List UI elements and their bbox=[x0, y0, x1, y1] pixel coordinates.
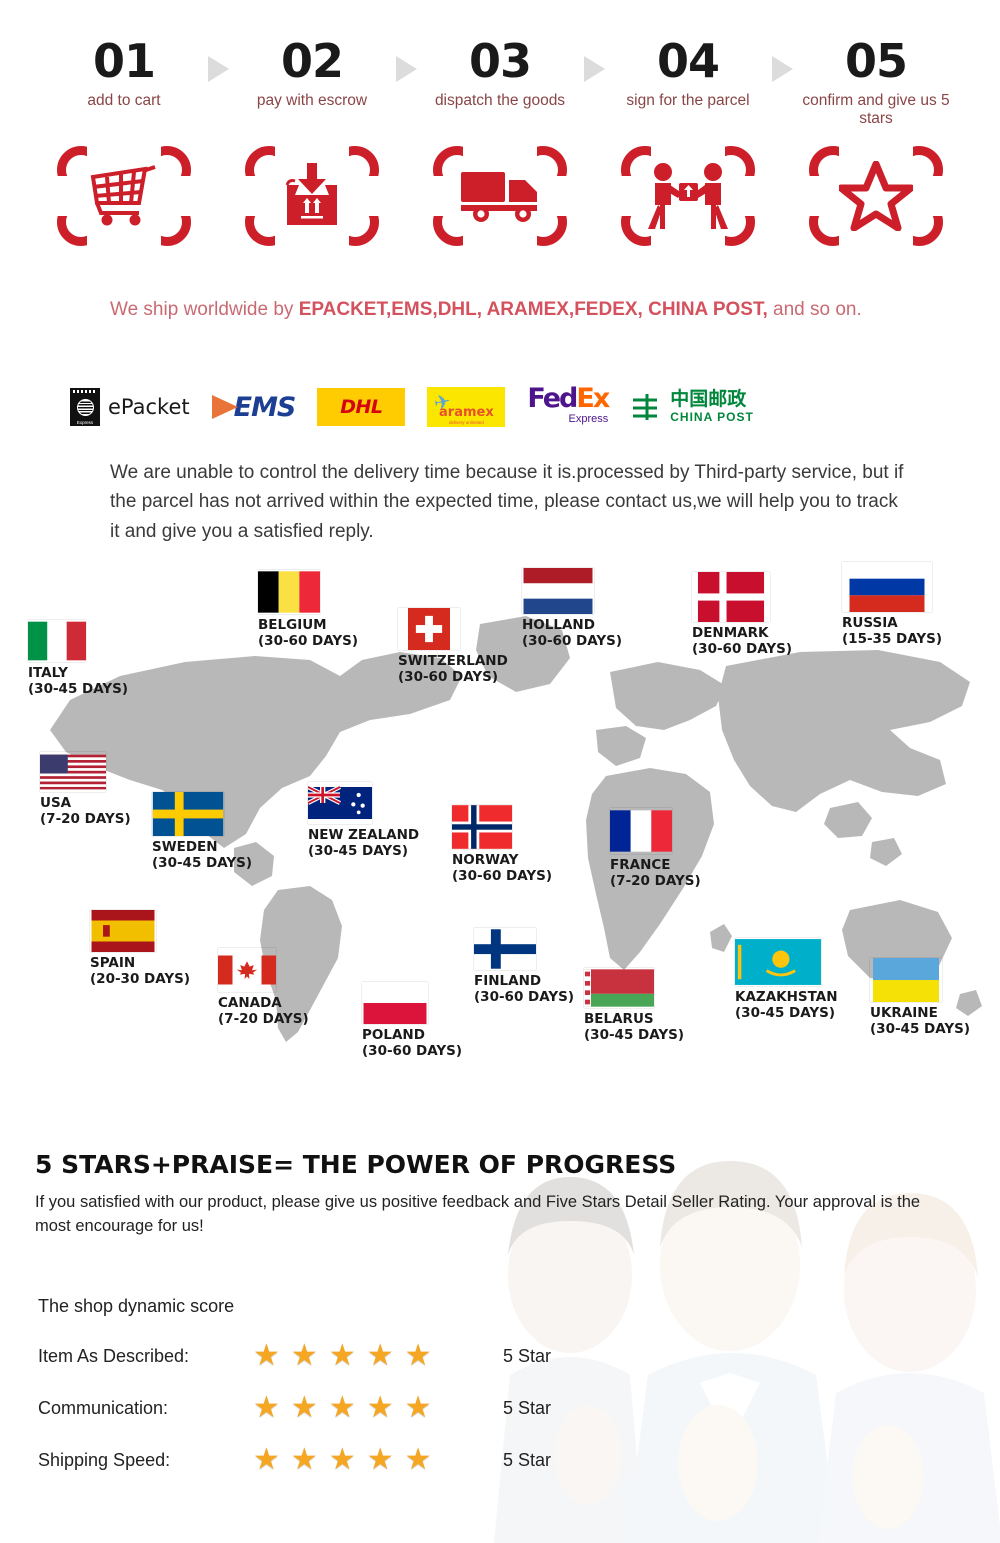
epacket-logo: Express ePacket bbox=[70, 385, 190, 429]
flag-finland-icon bbox=[474, 928, 536, 970]
flag-spain-icon bbox=[90, 910, 156, 952]
dhl-label: DHL bbox=[340, 396, 382, 418]
step-arrow-icon bbox=[387, 56, 425, 82]
flag-norway-icon bbox=[452, 805, 512, 849]
rating-value: 5 Star bbox=[503, 1450, 551, 1471]
escrow-box-tile bbox=[237, 140, 387, 252]
country-days: (30-60 DAYS) bbox=[522, 633, 622, 649]
country-days: (30-45 DAYS) bbox=[584, 1027, 684, 1043]
china-post-mark-icon bbox=[630, 391, 664, 423]
flag-sweden-icon bbox=[152, 792, 224, 836]
map-pin-spain: SPAIN (20-30 DAYS) bbox=[90, 910, 190, 987]
step-label: sign for the parcel bbox=[613, 92, 763, 110]
country-days: (30-45 DAYS) bbox=[870, 1021, 970, 1037]
seller-ratings: Item As Described: ★ ★ ★ ★ ★ 5 Star Comm… bbox=[38, 1330, 638, 1486]
flag-poland-icon bbox=[362, 982, 428, 1024]
country-name: SWEDEN bbox=[152, 839, 252, 855]
flag-canada-icon bbox=[218, 948, 276, 992]
flag-france-icon bbox=[610, 808, 672, 854]
country-days: (30-60 DAYS) bbox=[398, 669, 508, 685]
ems-logo: EMS bbox=[212, 385, 296, 429]
dhl-logo: DHL bbox=[317, 385, 405, 429]
country-name: DENMARK bbox=[692, 625, 792, 641]
map-pin-finland: FINLAND (30-60 DAYS) bbox=[474, 928, 574, 1005]
step-05: 05 confirm and give us 5 stars bbox=[801, 38, 951, 129]
map-pin-new-zealand: NEW ZEALAND (30-45 DAYS) bbox=[308, 782, 419, 859]
rating-row: Communication: ★ ★ ★ ★ ★ 5 Star bbox=[38, 1382, 638, 1434]
country-name: BELGIUM bbox=[258, 617, 358, 633]
flag-denmark-icon bbox=[692, 572, 770, 622]
china-post-en: CHINA POST bbox=[670, 410, 754, 424]
box-down-arrow-icon bbox=[277, 163, 347, 229]
map-pin-poland: POLAND (30-60 DAYS) bbox=[362, 982, 462, 1059]
airplane-icon: ✈ bbox=[432, 389, 454, 417]
country-days: (30-60 DAYS) bbox=[362, 1043, 462, 1059]
map-pin-holland: HOLLAND (30-60 DAYS) bbox=[522, 568, 622, 649]
step-number: 03 bbox=[425, 38, 575, 84]
feedback-section: 5 STARS+PRAISE= THE POWER OF PROGRESS If… bbox=[35, 1150, 935, 1239]
ship-suffix: and so on. bbox=[768, 299, 862, 320]
epacket-badge-icon: Express bbox=[70, 388, 100, 426]
epacket-badge-sub: Express bbox=[70, 420, 100, 425]
country-name: HOLLAND bbox=[522, 617, 622, 633]
star-icon: ★ bbox=[329, 1393, 356, 1423]
fedex-ex: Ex bbox=[576, 383, 608, 414]
flag-belgium-icon bbox=[258, 570, 320, 614]
star-icon: ★ bbox=[405, 1393, 432, 1423]
feedback-body: If you satisfied with our product, pleas… bbox=[35, 1191, 935, 1239]
star-icon: ★ bbox=[405, 1445, 432, 1475]
flag-holland-icon bbox=[522, 568, 594, 614]
country-name: FINLAND bbox=[474, 973, 574, 989]
step-arrow-icon bbox=[199, 56, 237, 82]
country-days: (30-45 DAYS) bbox=[152, 855, 252, 871]
map-pin-belarus: BELARUS (30-45 DAYS) bbox=[584, 968, 684, 1043]
rating-row: Shipping Speed: ★ ★ ★ ★ ★ 5 Star bbox=[38, 1434, 638, 1486]
shopping-cart-tile bbox=[49, 140, 199, 252]
fedex-fed: Fed bbox=[527, 383, 576, 414]
step-01: 01 add to cart bbox=[49, 38, 199, 110]
country-name: NEW ZEALAND bbox=[308, 827, 419, 843]
world-shipping-map: ITALY (30-45 DAYS) BELGIUM (30-60 DAYS) … bbox=[0, 560, 1000, 1090]
rating-stars: ★ ★ ★ ★ ★ bbox=[253, 1393, 503, 1423]
map-pin-sweden: SWEDEN (30-45 DAYS) bbox=[152, 792, 252, 871]
star-icon: ★ bbox=[367, 1445, 394, 1475]
country-name: SPAIN bbox=[90, 955, 190, 971]
country-name: UKRAINE bbox=[870, 1005, 970, 1021]
country-name: KAZAKHSTAN bbox=[735, 989, 838, 1005]
star-icon: ★ bbox=[253, 1393, 280, 1423]
fedex-sub: Express bbox=[569, 413, 609, 425]
flag-new-zealand-icon bbox=[308, 782, 372, 824]
rating-label: Communication: bbox=[38, 1398, 253, 1419]
flag-russia-icon bbox=[842, 562, 932, 612]
star-icon: ★ bbox=[329, 1341, 356, 1371]
step-label: pay with escrow bbox=[237, 92, 387, 110]
delivery-truck-icon bbox=[459, 168, 541, 224]
map-pin-belgium: BELGIUM (30-60 DAYS) bbox=[258, 570, 358, 649]
star-icon: ★ bbox=[291, 1445, 318, 1475]
carrier-logos: Express ePacket EMS DHL ✈ aramex deliver… bbox=[70, 382, 950, 432]
rating-value: 5 Star bbox=[503, 1346, 551, 1367]
star-outline-icon bbox=[839, 161, 913, 231]
dynamic-score-label: The shop dynamic score bbox=[38, 1296, 234, 1317]
country-days: (15-35 DAYS) bbox=[842, 631, 942, 647]
country-name: BELARUS bbox=[584, 1011, 684, 1027]
country-name: NORWAY bbox=[452, 852, 552, 868]
flag-ukraine-icon bbox=[870, 958, 942, 1002]
aramex-sub: delivery unlimited bbox=[449, 420, 484, 425]
step-number: 02 bbox=[237, 38, 387, 84]
flag-italy-icon bbox=[28, 620, 86, 662]
flag-belarus-icon bbox=[584, 968, 654, 1008]
delivery-time-disclaimer: We are unable to control the delivery ti… bbox=[110, 458, 910, 546]
country-name: ITALY bbox=[28, 665, 128, 681]
country-days: (7-20 DAYS) bbox=[40, 811, 131, 827]
map-pin-canada: CANADA (7-20 DAYS) bbox=[218, 948, 309, 1027]
map-pin-russia: RUSSIA (15-35 DAYS) bbox=[842, 562, 942, 647]
country-name: FRANCE bbox=[610, 857, 701, 873]
rating-row: Item As Described: ★ ★ ★ ★ ★ 5 Star bbox=[38, 1330, 638, 1382]
country-days: (30-60 DAYS) bbox=[258, 633, 358, 649]
ems-label: EMS bbox=[234, 392, 296, 423]
parcel-handover-tile bbox=[613, 140, 763, 252]
country-days: (30-60 DAYS) bbox=[474, 989, 574, 1005]
rating-value: 5 Star bbox=[503, 1398, 551, 1419]
step-number: 04 bbox=[613, 38, 763, 84]
ship-carriers: EPACKET,EMS,DHL, ARAMEX,FEDEX, CHINA POS… bbox=[299, 299, 768, 320]
step-04: 04 sign for the parcel bbox=[613, 38, 763, 110]
step-02: 02 pay with escrow bbox=[237, 38, 387, 110]
step-03: 03 dispatch the goods bbox=[425, 38, 575, 110]
flag-switzerland-icon bbox=[398, 608, 460, 650]
map-pin-usa: USA (7-20 DAYS) bbox=[40, 752, 131, 827]
epacket-label: ePacket bbox=[108, 395, 190, 419]
country-days: (30-60 DAYS) bbox=[692, 641, 792, 657]
feedback-title: 5 STARS+PRAISE= THE POWER OF PROGRESS bbox=[35, 1150, 935, 1179]
star-icon: ★ bbox=[329, 1445, 356, 1475]
country-name: RUSSIA bbox=[842, 615, 942, 631]
country-name: POLAND bbox=[362, 1027, 462, 1043]
step-label: add to cart bbox=[49, 92, 199, 110]
map-pin-ukraine: UKRAINE (30-45 DAYS) bbox=[870, 958, 970, 1037]
flag-usa-icon bbox=[40, 752, 106, 792]
process-step-icons bbox=[0, 140, 1000, 255]
worldwide-shipping-text: We ship worldwide by EPACKET,EMS,DHL, AR… bbox=[110, 296, 910, 324]
star-icon: ★ bbox=[367, 1393, 394, 1423]
flag-kazakhstan-icon bbox=[735, 938, 821, 986]
map-pin-kazakhstan: KAZAKHSTAN (30-45 DAYS) bbox=[735, 938, 838, 1021]
country-days: (30-45 DAYS) bbox=[308, 843, 419, 859]
country-name: USA bbox=[40, 795, 131, 811]
star-icon: ★ bbox=[291, 1341, 318, 1371]
ems-triangle-icon bbox=[212, 395, 238, 419]
step-label: dispatch the goods bbox=[425, 92, 575, 110]
aramex-logo: ✈ aramex delivery unlimited bbox=[427, 385, 505, 429]
country-days: (30-60 DAYS) bbox=[452, 868, 552, 884]
step-arrow-icon bbox=[763, 56, 801, 82]
fedex-logo: FedEx Express bbox=[527, 385, 608, 429]
rating-stars: ★ ★ ★ ★ ★ bbox=[253, 1341, 503, 1371]
country-days: (30-45 DAYS) bbox=[28, 681, 128, 697]
dispatch-truck-tile bbox=[425, 140, 575, 252]
map-pin-switzerland: SWITZERLAND (30-60 DAYS) bbox=[398, 608, 508, 685]
map-pin-italy: ITALY (30-45 DAYS) bbox=[28, 620, 128, 697]
five-star-tile bbox=[801, 140, 951, 252]
country-name: SWITZERLAND bbox=[398, 653, 508, 669]
star-icon: ★ bbox=[253, 1341, 280, 1371]
step-label: confirm and give us 5 stars bbox=[801, 92, 951, 129]
map-pin-denmark: DENMARK (30-60 DAYS) bbox=[692, 572, 792, 657]
country-days: (30-45 DAYS) bbox=[735, 1005, 838, 1021]
step-number: 01 bbox=[49, 38, 199, 84]
china-post-cn: 中国邮政 bbox=[670, 390, 754, 410]
star-icon: ★ bbox=[291, 1393, 318, 1423]
star-icon: ★ bbox=[253, 1445, 280, 1475]
country-name: CANADA bbox=[218, 995, 309, 1011]
country-days: (20-30 DAYS) bbox=[90, 971, 190, 987]
rating-label: Shipping Speed: bbox=[38, 1450, 253, 1471]
step-number: 05 bbox=[801, 38, 951, 84]
map-pin-france: FRANCE (7-20 DAYS) bbox=[610, 808, 701, 889]
map-pin-norway: NORWAY (30-60 DAYS) bbox=[452, 805, 552, 884]
rating-stars: ★ ★ ★ ★ ★ bbox=[253, 1445, 503, 1475]
rating-label: Item As Described: bbox=[38, 1346, 253, 1367]
china-post-logo: 中国邮政 CHINA POST bbox=[630, 385, 754, 429]
step-arrow-icon bbox=[575, 56, 613, 82]
star-icon: ★ bbox=[405, 1341, 432, 1371]
country-days: (7-20 DAYS) bbox=[218, 1011, 309, 1027]
shopping-cart-icon bbox=[87, 165, 161, 227]
parcel-handover-icon bbox=[646, 161, 730, 231]
country-days: (7-20 DAYS) bbox=[610, 873, 701, 889]
process-steps: 01 add to cart 02 pay with escrow 03 dis… bbox=[0, 38, 1000, 138]
ship-prefix: We ship worldwide by bbox=[110, 299, 299, 320]
star-icon: ★ bbox=[367, 1341, 394, 1371]
